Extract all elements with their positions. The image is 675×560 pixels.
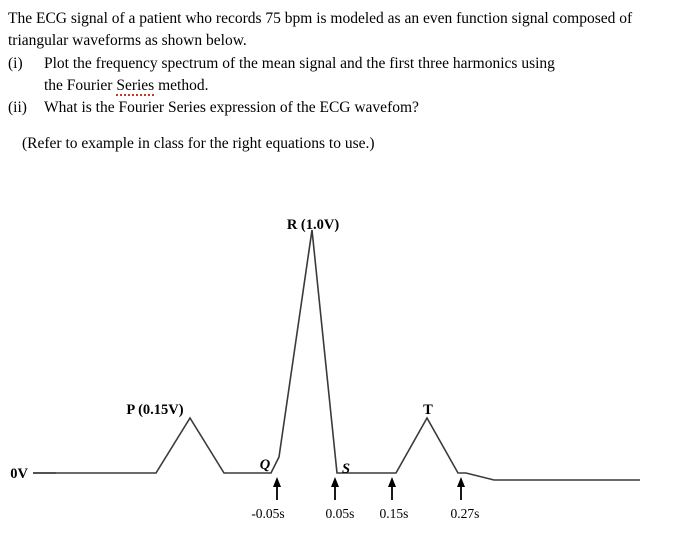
zero-volt-label: 0V <box>10 466 28 482</box>
tick-arrow-3 <box>388 477 396 500</box>
tick-arrow-1 <box>273 477 281 500</box>
item-label-ii: (ii) <box>8 97 44 119</box>
tick-arrow-4 <box>457 477 465 500</box>
tick-label-3: 0.15s <box>380 506 409 521</box>
misspelled-word: Series <box>116 77 154 96</box>
item-i-main: Plot the frequency spectrum of the mean … <box>44 55 555 72</box>
question-item-ii: (ii) What is the Fourier Series expressi… <box>8 97 663 119</box>
tick-label-4: 0.27s <box>451 506 480 521</box>
tick-arrow-2 <box>331 477 339 500</box>
q-wave-label: Q <box>260 457 271 473</box>
item-i-continuation: the Fourier Series method. <box>44 75 663 97</box>
r-wave-label: R (1.0V) <box>287 217 340 233</box>
item-i-cont-post: method. <box>154 77 208 94</box>
ecg-waveform-figure: 0V P (0.15V) R (1.0V) Q S T <box>0 190 675 560</box>
question-note: (Refer to example in class for the right… <box>8 133 663 155</box>
tick-label-2: 0.05s <box>326 506 355 521</box>
intro-paragraph: The ECG signal of a patient who records … <box>8 8 663 52</box>
question-block: The ECG signal of a patient who records … <box>0 0 675 155</box>
question-item-i: (i) Plot the frequency spectrum of the m… <box>8 53 663 97</box>
item-text-ii: What is the Fourier Series expression of… <box>44 97 663 119</box>
item-text-i: Plot the frequency spectrum of the mean … <box>44 53 663 97</box>
tick-label-1: -0.05s <box>251 506 284 521</box>
t-wave-label: T <box>423 402 433 418</box>
item-label-i: (i) <box>8 53 44 75</box>
p-wave-label: P (0.15V) <box>126 402 183 418</box>
intro-line-1: The ECG signal of a patient who records … <box>8 10 549 27</box>
ecg-trace <box>33 230 640 480</box>
item-i-cont-pre: the Fourier <box>44 77 116 94</box>
item-ii-main: What is the Fourier Series expression of… <box>44 99 419 116</box>
tick-arrow-group <box>273 477 465 500</box>
s-wave-label: S <box>342 461 350 477</box>
